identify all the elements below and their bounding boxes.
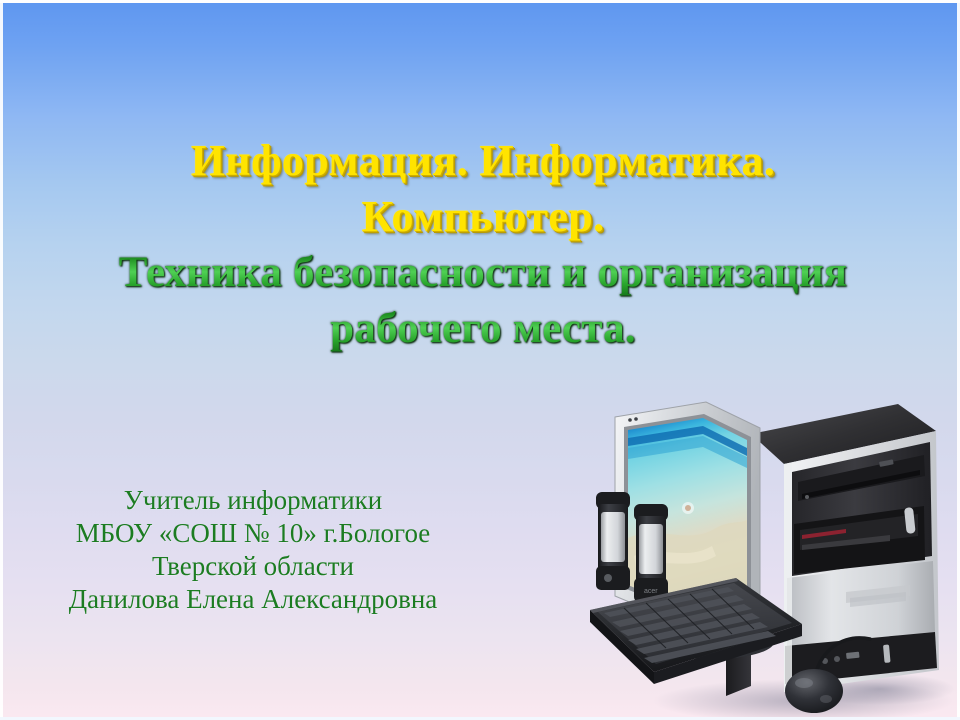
presentation-slide: Информация. Информатика. Компьютер. Техн…: [0, 0, 960, 720]
title-line-2: Компьютер.: [3, 189, 960, 245]
speaker-right: acer: [634, 504, 668, 602]
desktop-computer-photo: acer: [588, 396, 960, 720]
author-credits: Учитель информатики МБОУ «СОШ № 10» г.Бо…: [13, 484, 493, 616]
title-line-3-wrap: Техника безопасности и организация: [3, 245, 960, 301]
title-line-3: Техника безопасности и организация: [3, 245, 960, 301]
speaker-left: [596, 492, 630, 590]
author-line-role: Учитель информатики: [13, 484, 493, 517]
mic-port: [834, 656, 840, 662]
speaker-left-knob: [604, 574, 612, 582]
slide-title: Информация. Информатика. Компьютер. Техн…: [3, 133, 960, 357]
author-line-school: МБОУ «СОШ № 10» г.Бологое: [13, 517, 493, 550]
mouse-body: [785, 669, 843, 713]
title-line-4: рабочего места.: [3, 301, 960, 357]
title-line-4-wrap: рабочего места.: [3, 301, 960, 357]
title-line-1: Информация. Информатика.: [3, 133, 960, 189]
author-line-name: Данилова Елена Александровна: [13, 583, 493, 616]
speaker-brand: acer: [644, 588, 658, 595]
author-line-region: Тверской области: [13, 550, 493, 583]
monitor-led: [628, 418, 632, 422]
